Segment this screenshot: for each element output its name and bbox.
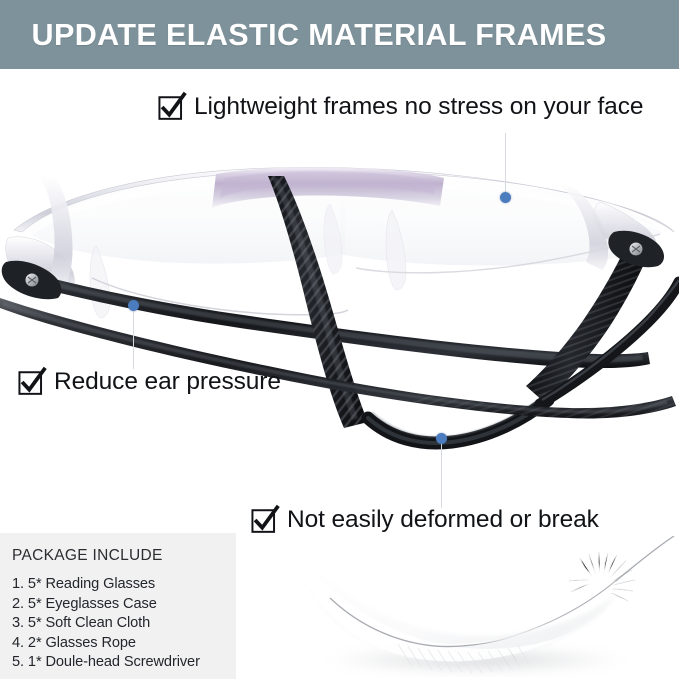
callout-deformed: Not easily deformed or break	[251, 506, 599, 534]
product-image-glasses	[0, 150, 679, 480]
checkbox-checked-icon	[158, 94, 185, 121]
list-item: 3. 5* Soft Clean Cloth	[12, 614, 236, 634]
checkbox-checked-icon	[251, 507, 278, 534]
package-list: 1. 5* Reading Glasses 2. 5* Eyeglasses C…	[12, 575, 236, 673]
header-banner: UPDATE ELASTIC MATERIAL FRAMES	[0, 0, 679, 69]
leader-line-deformed	[441, 442, 442, 508]
marker-dot-lightweight	[500, 192, 511, 203]
list-item: 4. 2* Glasses Rope	[12, 634, 236, 654]
package-title: PACKAGE INCLUDE	[12, 547, 236, 565]
product-feature-image: UPDATE ELASTIC MATERIAL FRAMES	[0, 0, 679, 679]
list-item: 5. 1* Doule-head Screwdriver	[12, 653, 236, 673]
package-include-panel: PACKAGE INCLUDE 1. 5* Reading Glasses 2.…	[0, 533, 236, 679]
callout-label: Reduce ear pressure	[54, 368, 281, 396]
callout-lightweight: Lightweight frames no stress on your fac…	[158, 93, 643, 121]
page-title: UPDATE ELASTIC MATERIAL FRAMES	[0, 17, 607, 53]
feather-graphic	[286, 536, 679, 679]
leader-line-lightweight	[505, 133, 506, 195]
callout-label: Not easily deformed or break	[287, 506, 599, 534]
leader-line-earpressure	[133, 309, 134, 369]
callout-earpressure: Reduce ear pressure	[18, 368, 281, 396]
list-item: 2. 5* Eyeglasses Case	[12, 595, 236, 615]
marker-dot-deformed	[436, 433, 447, 444]
marker-dot-earpressure	[128, 300, 139, 311]
list-item: 1. 5* Reading Glasses	[12, 575, 236, 595]
callout-label: Lightweight frames no stress on your fac…	[194, 93, 643, 121]
checkbox-checked-icon	[18, 369, 45, 396]
